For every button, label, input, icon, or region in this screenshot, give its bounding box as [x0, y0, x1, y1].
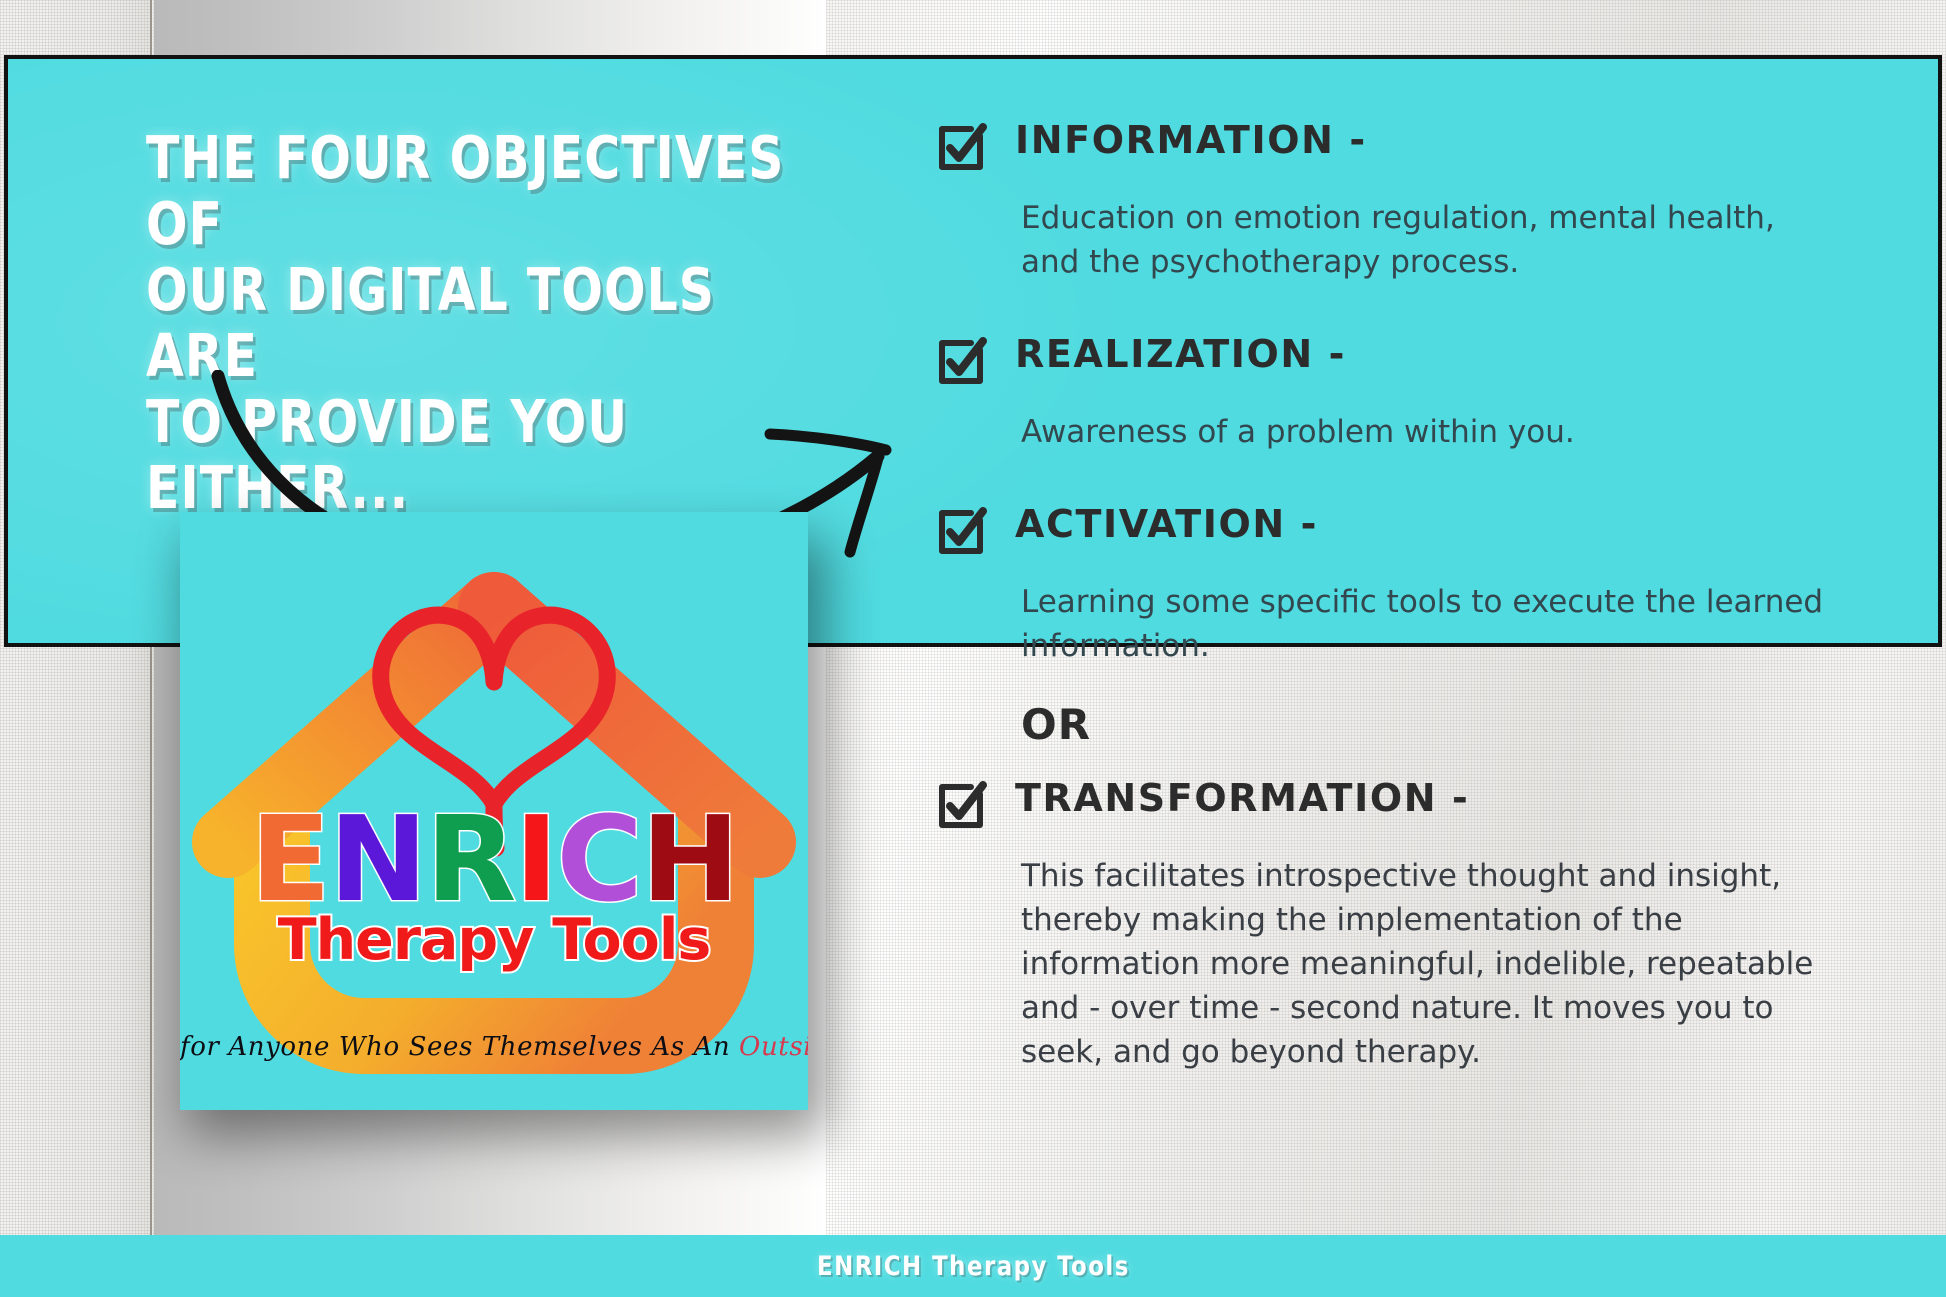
objective-title: REALIZATION - — [1015, 334, 1346, 376]
logo-tagline: for Anyone Who Sees Themselves As An Out… — [180, 1032, 808, 1062]
objectives-list: INFORMATION - Education on emotion regul… — [935, 120, 1835, 668]
or-divider-label: OR — [1021, 700, 1091, 749]
objective-body: Learning some specific tools to execute … — [1021, 580, 1835, 668]
objective-item-activation: ACTIVATION - Learning some specific tool… — [935, 504, 1835, 668]
logo-tagline-main: for Anyone Who Sees Themselves As An — [180, 1032, 739, 1062]
checkbox-checked-icon — [935, 506, 987, 563]
transformation-block: TRANSFORMATION - This facilitates intros… — [935, 778, 1835, 1074]
objective-item-realization: REALIZATION - Awareness of a problem wit… — [935, 334, 1835, 454]
logo-subtitle: Therapy Tools — [180, 912, 808, 969]
checkbox-checked-icon — [935, 122, 987, 179]
objective-item-information: INFORMATION - Education on emotion regul… — [935, 120, 1835, 284]
infographic-canvas: THE FOUR OBJECTIVES OF OUR DIGITAL TOOLS… — [0, 0, 1946, 1297]
logo-card: ENRICH Therapy Tools for Anyone Who Sees… — [180, 512, 808, 1110]
page-title: THE FOUR OBJECTIVES OF OUR DIGITAL TOOLS… — [146, 125, 790, 521]
objective-body: Awareness of a problem within you. — [1021, 410, 1835, 454]
objective-title: TRANSFORMATION - — [1015, 778, 1469, 820]
objective-item-transformation: TRANSFORMATION - This facilitates intros… — [935, 778, 1835, 1074]
objective-title: ACTIVATION - — [1015, 504, 1318, 546]
checkbox-checked-icon — [935, 336, 987, 393]
objective-title: INFORMATION - — [1015, 120, 1367, 162]
objective-body: Education on emotion regulation, mental … — [1021, 196, 1835, 284]
checkbox-checked-icon — [935, 780, 987, 837]
logo-wordmark: ENRICH — [180, 800, 808, 918]
objective-body: This facilitates introspective thought a… — [1021, 854, 1835, 1074]
footer-brand-label: ENRICH Therapy Tools — [817, 1251, 1130, 1282]
logo-tagline-accent: Outsider — [739, 1032, 808, 1062]
footer-bar: ENRICH Therapy Tools — [0, 1235, 1946, 1297]
